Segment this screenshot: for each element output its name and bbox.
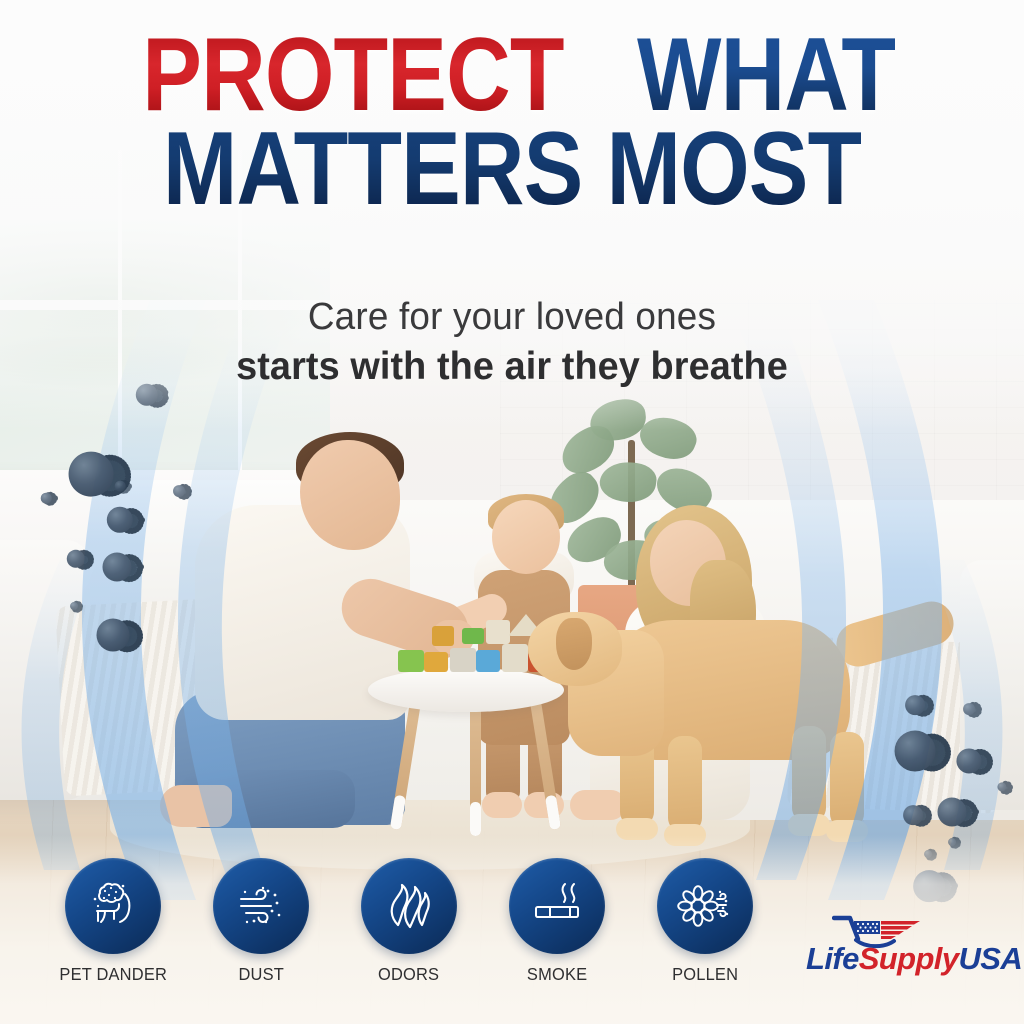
feature-icon-row: PET DANDER bbox=[38, 858, 778, 988]
pollen-circle[interactable] bbox=[657, 858, 753, 954]
virus-core bbox=[70, 602, 78, 610]
headline: PROTECTWHAT MATTERS MOST bbox=[0, 26, 1024, 220]
pet-dander-icon bbox=[84, 877, 142, 935]
virus-particle bbox=[884, 720, 946, 782]
feature-label: ODORS bbox=[378, 964, 439, 985]
dog-paw bbox=[788, 814, 830, 836]
feature-label: DUST bbox=[238, 964, 284, 985]
pet-dander-circle[interactable] bbox=[65, 858, 161, 954]
logo-part-usa: USA bbox=[958, 941, 1022, 976]
play-table bbox=[368, 668, 564, 712]
feature-smoke[interactable]: SMOKE bbox=[482, 858, 632, 985]
feature-label: SMOKE bbox=[527, 964, 587, 985]
smoke-circle[interactable] bbox=[509, 858, 605, 954]
feature-label: PET DANDER bbox=[59, 964, 167, 985]
dog-leg bbox=[792, 726, 826, 822]
virus-core bbox=[895, 731, 936, 772]
brand-logo[interactable]: LifeSupplyUSA bbox=[806, 915, 1002, 989]
table-leg bbox=[470, 706, 481, 836]
feature-dust[interactable]: DUST bbox=[186, 858, 336, 985]
virus-particle bbox=[57, 440, 125, 508]
feature-pet-dander[interactable]: PET DANDER bbox=[38, 858, 188, 985]
dog-leg bbox=[830, 732, 864, 828]
feature-odors[interactable]: ODORS bbox=[334, 858, 484, 985]
feature-label: POLLEN bbox=[672, 964, 738, 985]
virus-particle bbox=[100, 500, 140, 540]
virus-core bbox=[97, 619, 130, 652]
dog-leg bbox=[668, 736, 702, 832]
headline-line-matters-most: MATTERS MOST bbox=[163, 120, 862, 220]
smoke-icon bbox=[528, 877, 586, 935]
virus-core bbox=[173, 485, 185, 497]
pollen-icon bbox=[676, 877, 734, 935]
virus-particle bbox=[68, 600, 80, 612]
dust-icon bbox=[232, 877, 290, 935]
father-foot bbox=[160, 785, 232, 827]
virus-particle bbox=[900, 690, 930, 720]
feature-pollen[interactable]: POLLEN bbox=[630, 858, 780, 985]
virus-particle bbox=[995, 780, 1009, 794]
virus-particle bbox=[960, 700, 978, 718]
dust-circle[interactable] bbox=[213, 858, 309, 954]
virus-core bbox=[115, 481, 126, 492]
toy-block bbox=[486, 620, 510, 644]
toy-block bbox=[432, 626, 454, 646]
virus-core bbox=[903, 805, 923, 825]
virus-core bbox=[905, 695, 925, 715]
toy-block bbox=[462, 628, 484, 644]
toy-block bbox=[424, 652, 448, 672]
virus-core bbox=[41, 493, 52, 504]
virus-core bbox=[102, 552, 131, 581]
subheading-line-1: Care for your loved ones bbox=[15, 296, 1008, 339]
virus-particle bbox=[930, 790, 974, 834]
virus-core bbox=[956, 748, 981, 773]
virus-particle bbox=[950, 742, 988, 780]
mother-foot bbox=[570, 790, 626, 820]
logo-part-life: Life bbox=[806, 941, 859, 976]
virus-core bbox=[69, 452, 114, 497]
virus-particle bbox=[62, 545, 90, 573]
virus-particle bbox=[88, 610, 138, 660]
virus-particle bbox=[112, 478, 128, 494]
subheading: Care for your loved ones starts with the… bbox=[0, 296, 1024, 389]
dog-ear bbox=[556, 618, 592, 670]
toy-block bbox=[450, 648, 476, 672]
virus-particle bbox=[170, 482, 188, 500]
logo-part-supply: Supply bbox=[859, 941, 959, 976]
toy-block bbox=[502, 644, 528, 672]
virus-core bbox=[937, 797, 966, 826]
toddler-head bbox=[492, 500, 560, 574]
virus-particle bbox=[898, 800, 928, 830]
virus-core bbox=[963, 703, 975, 715]
subheading-line-2: starts with the air they breathe bbox=[15, 345, 1008, 389]
virus-particle bbox=[38, 490, 54, 506]
odors-circle[interactable] bbox=[361, 858, 457, 954]
odors-icon bbox=[381, 877, 437, 935]
toddler-foot bbox=[482, 792, 522, 818]
toy-block bbox=[398, 650, 424, 672]
toy-block bbox=[476, 650, 500, 672]
advertisement-banner: PROTECTWHAT MATTERS MOST Care for your l… bbox=[0, 0, 1024, 1024]
brand-logo-text: LifeSupplyUSA bbox=[806, 941, 1002, 977]
virus-particle bbox=[95, 545, 139, 589]
